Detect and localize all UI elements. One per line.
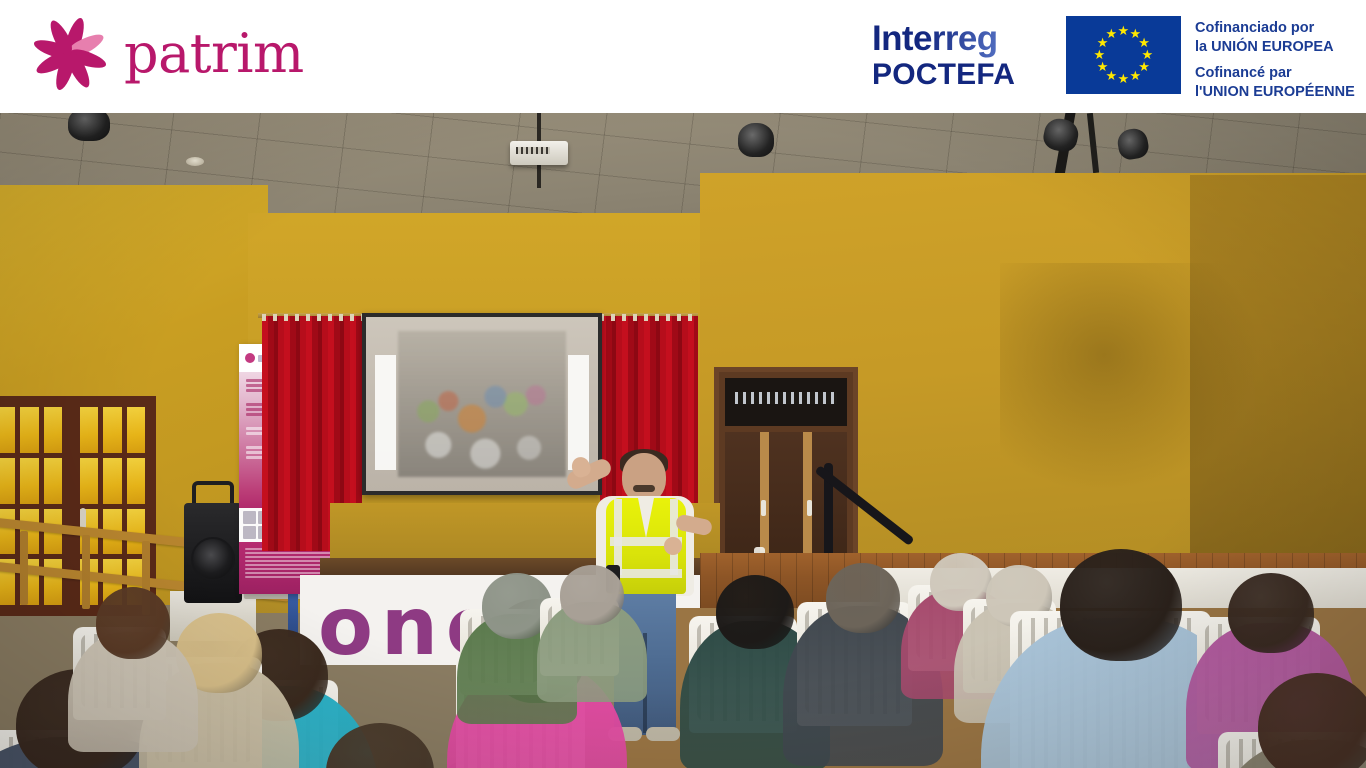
patrim-wordmark: patrim <box>124 27 304 81</box>
ceiling-spotlight-icon <box>738 123 774 157</box>
audience-member-head <box>560 565 624 625</box>
railing-post <box>82 535 90 609</box>
audience-member-head <box>1228 573 1314 653</box>
door-leaf <box>769 432 813 556</box>
eu-cofunding-logo[interactable]: Cofinanciado por la UNIÓN EUROPEA Cofina… <box>1066 16 1351 96</box>
interreg-wordmark: Interreg <box>872 21 1044 57</box>
ceiling-dome-light-icon <box>186 157 204 166</box>
eu-text-es-line2: la UNIÓN EUROPEA <box>1195 38 1355 57</box>
transom-light-reflection <box>735 392 837 404</box>
eu-flag-icon <box>1066 16 1181 94</box>
railing-post <box>20 531 28 605</box>
pa-speaker <box>184 503 242 603</box>
patrim-pinwheel-icon <box>28 14 112 94</box>
interreg-poctefa-logo[interactable]: Interreg POCTEFA <box>872 18 1044 94</box>
door-leaf <box>725 432 769 556</box>
curtain-hooks <box>262 314 362 321</box>
projection-screen <box>362 313 602 495</box>
eu-text-es-line1: Cofinanciado por <box>1195 19 1355 38</box>
audience-member-head <box>716 575 794 649</box>
eu-cofunding-text: Cofinanciado por la UNIÓN EUROPEA Cofina… <box>1195 16 1355 101</box>
door-pane <box>127 407 145 453</box>
presenter-moustache <box>633 485 655 492</box>
eu-text-fr-line2: l'UNION EUROPÉENNE <box>1195 83 1355 102</box>
rollup-patrim-icon <box>245 353 255 363</box>
door-pane <box>0 458 15 504</box>
door-pane <box>127 458 145 504</box>
door-pane <box>80 458 98 504</box>
projector-vents <box>516 147 550 154</box>
poctefa-wordmark: POCTEFA <box>872 58 1044 91</box>
door-pane <box>103 458 121 504</box>
event-photograph: onea <box>0 113 1366 768</box>
ceiling-spotlight-icon <box>68 113 110 141</box>
audience-member-head <box>826 563 900 633</box>
projection-screen-surface <box>366 317 598 491</box>
presenter-right-hand <box>664 537 682 555</box>
door-transom-window <box>725 378 847 426</box>
door-pane <box>0 407 15 453</box>
door-handle[interactable] <box>807 500 812 516</box>
patrim-logo[interactable]: patrim <box>28 14 328 94</box>
curtain-hooks <box>600 314 698 321</box>
projected-slide-image <box>398 331 565 477</box>
ceiling-projector <box>510 141 568 165</box>
door-pane <box>44 458 62 504</box>
door-pane <box>103 407 121 453</box>
door-pane <box>44 407 62 453</box>
speaker-cone-icon <box>191 537 235 581</box>
door-pane <box>20 407 38 453</box>
wall-shadow <box>1000 263 1260 493</box>
presenter-shoe <box>646 727 680 741</box>
audience-member-head <box>96 587 170 659</box>
eu-text-fr-line1: Cofinancé par <box>1195 64 1355 83</box>
audience-member-head <box>1060 549 1182 661</box>
door-pane <box>80 407 98 453</box>
sponsor-header-bar: patrim Interreg POCTEFA Cofinanciado por… <box>0 0 1366 113</box>
slide-side-bar <box>568 355 589 470</box>
vest-reflective-stripe <box>614 499 622 575</box>
door-pane <box>20 458 38 504</box>
slide-side-bar <box>375 355 396 470</box>
door-handle[interactable] <box>761 500 766 516</box>
